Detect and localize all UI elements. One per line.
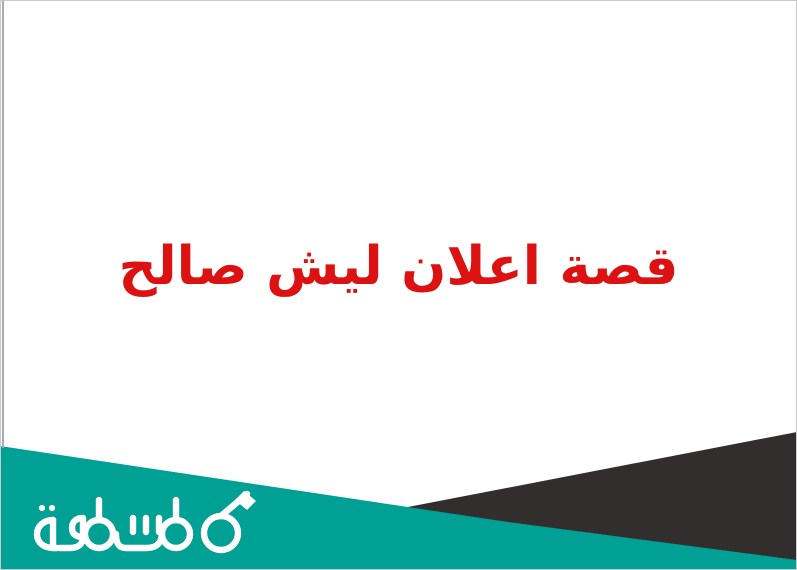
poster-canvas: قصة اعلان ليش صالح [0,0,797,570]
taa-marbuta-dot-right [39,505,45,511]
brand-logo[interactable]: موسوعة [16,488,262,558]
left-edge-rule [2,0,4,448]
teal-band-shape [0,0,797,570]
taa-marbuta-dot-left [49,505,55,511]
mawsoua-wordmark-logo [16,488,262,558]
